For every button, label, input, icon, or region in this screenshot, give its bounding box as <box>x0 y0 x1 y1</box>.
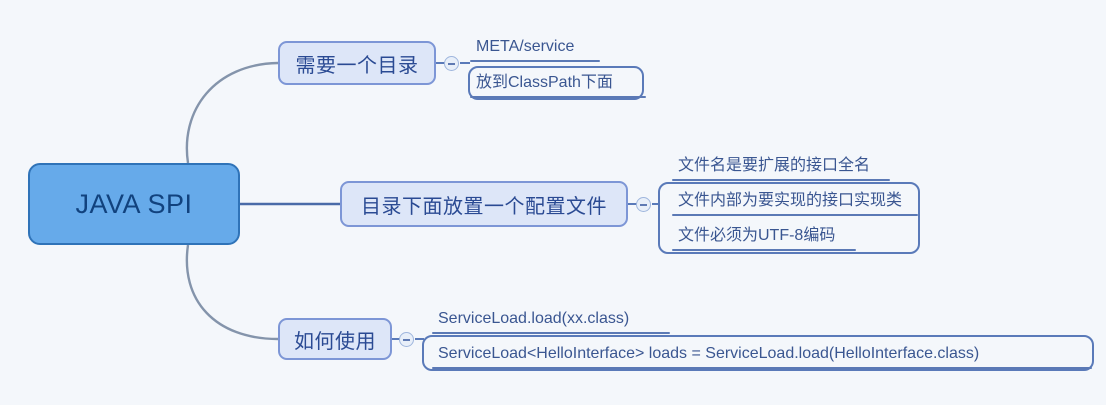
leaf-item-2-3-label: 文件必须为UTF-8编码 <box>672 225 856 249</box>
leaf-item-2-3[interactable]: 文件必须为UTF-8编码 <box>672 225 856 251</box>
leaf-item-3-2-label: ServiceLoad<HelloInterface> loads = Serv… <box>432 343 1092 367</box>
leaf-item-2-1[interactable]: 文件名是要扩展的接口全名 <box>672 155 890 181</box>
branch-node-3[interactable]: 如何使用 <box>278 318 392 360</box>
collapse-toggle-branch-1[interactable] <box>444 56 459 71</box>
branch-node-3-label: 如何使用 <box>294 325 376 354</box>
leaf-item-2-2[interactable]: 文件内部为要实现的接口实现类 <box>672 190 918 216</box>
edge-root-branch-3 <box>187 245 278 339</box>
leaf-item-2-2-underline <box>672 214 918 216</box>
leaf-item-1-2[interactable]: 放到ClassPath下面 <box>470 72 646 98</box>
leaf-item-3-1[interactable]: ServiceLoad.load(xx.class) <box>432 308 670 334</box>
root-node-label: JAVA SPI <box>75 189 192 220</box>
leaf-item-3-2-underline <box>432 367 1092 369</box>
leaf-item-1-1[interactable]: META/service <box>470 36 600 62</box>
branch-node-2-label: 目录下面放置一个配置文件 <box>361 190 607 219</box>
root-node[interactable]: JAVA SPI <box>28 163 240 245</box>
leaf-item-2-3-underline <box>672 249 856 251</box>
leaf-item-3-1-underline <box>432 332 670 334</box>
collapse-toggle-branch-2[interactable] <box>636 197 651 212</box>
edge-root-branch-1 <box>187 63 278 163</box>
leaf-item-1-2-underline <box>470 96 646 98</box>
leaf-item-3-1-label: ServiceLoad.load(xx.class) <box>432 308 670 332</box>
leaf-item-1-1-label: META/service <box>470 36 600 60</box>
leaf-item-2-1-underline <box>672 179 890 181</box>
branch-node-1-label: 需要一个目录 <box>296 49 419 78</box>
leaf-item-2-1-label: 文件名是要扩展的接口全名 <box>672 155 890 179</box>
leaf-item-1-2-label: 放到ClassPath下面 <box>470 72 646 96</box>
collapse-toggle-branch-3[interactable] <box>399 332 414 347</box>
branch-node-1[interactable]: 需要一个目录 <box>278 41 436 85</box>
mindmap-canvas: JAVA SPI 需要一个目录 META/service 放到ClassPath… <box>0 0 1106 405</box>
leaf-item-1-1-underline <box>470 60 600 62</box>
branch-node-2[interactable]: 目录下面放置一个配置文件 <box>340 181 628 227</box>
leaf-item-2-2-label: 文件内部为要实现的接口实现类 <box>672 190 918 214</box>
leaf-item-3-2[interactable]: ServiceLoad<HelloInterface> loads = Serv… <box>432 343 1092 369</box>
